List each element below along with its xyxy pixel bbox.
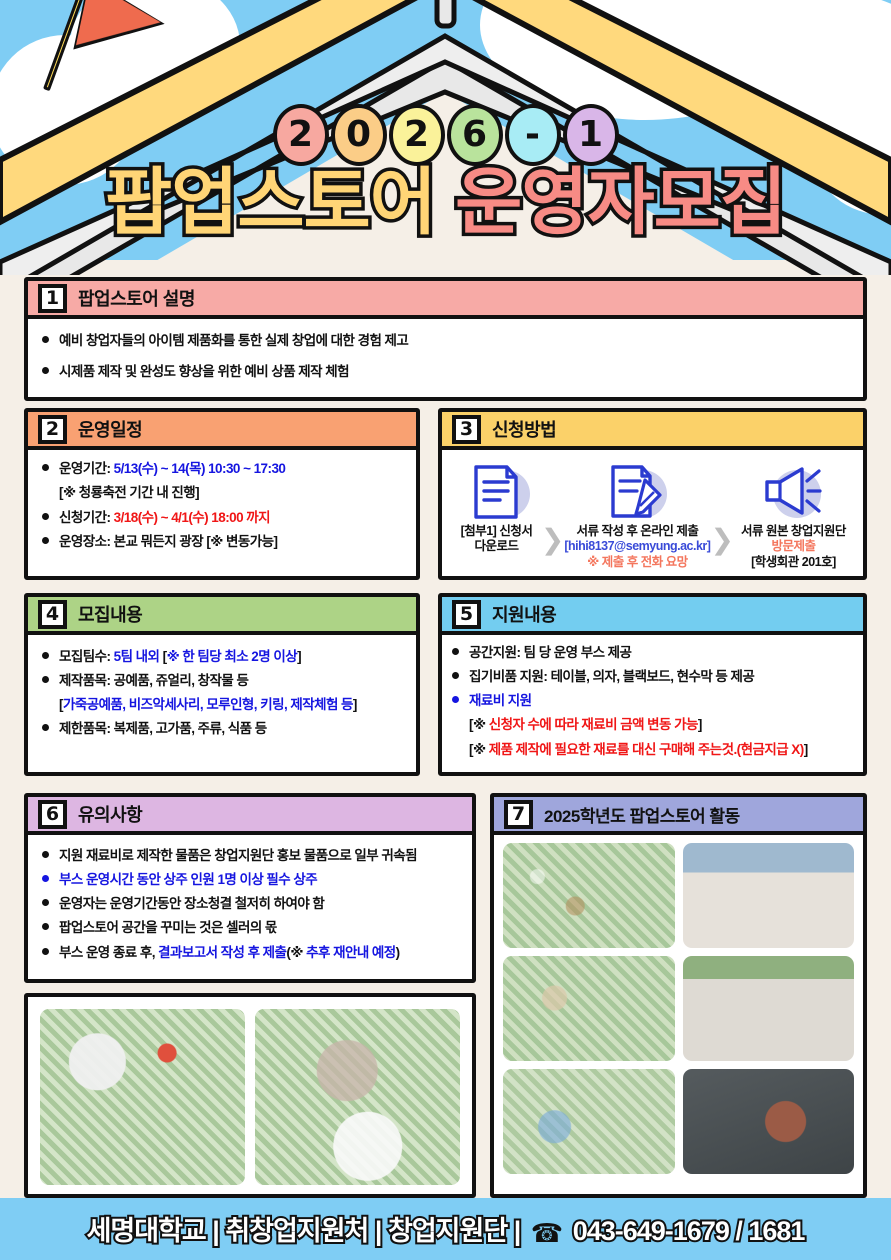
bullet-dot: [42, 923, 49, 930]
flow-icon-wrap: [734, 458, 853, 520]
section-2-body: 운영기간: 5/13(수) ~ 14(목) 10:30 ~ 17:30 [※ 청…: [28, 450, 416, 565]
flow-caption-line: 다운로드: [461, 539, 533, 554]
activity-photo: [683, 956, 855, 1061]
year-bubble: 6: [447, 104, 503, 166]
year-bubble: 2: [273, 104, 329, 166]
bullet-dot: [452, 696, 459, 703]
section-title: 팝업스토어 설명: [78, 285, 195, 311]
bullet-dot: [42, 851, 49, 858]
list-item: 집기비품 지원: 테이블, 의자, 블랙보드, 현수막 등 제공: [450, 667, 855, 686]
main-title: 팝업스토어 운영자모집: [0, 166, 891, 239]
list-item-text: 모집팀수:: [59, 649, 114, 664]
bottom-photo-row: [28, 997, 472, 1197]
list-item-text: 가죽공예품, 비즈악세사리, 모루인형, 키링, 제작체험 등: [63, 697, 353, 712]
year-bubble: 0: [331, 104, 387, 166]
bullet-dot: [42, 464, 49, 471]
section-title: 운영일정: [78, 416, 142, 442]
section-5-header: 5 지원내용: [442, 597, 863, 635]
poster-title-block: 2026-1 팝업스토어 운영자모집: [0, 104, 891, 239]
list-item: 부스 운영시간 동안 상주 인원 1명 이상 필수 상주: [40, 870, 460, 889]
flow-caption-note: ※ 제출 후 전화 요망: [564, 555, 710, 570]
list-item-text: 결과보고서 작성 후 제출: [158, 945, 286, 960]
section-1-list: 예비 창업자들의 아이템 제품화를 통한 실제 창업에 대한 경험 제고 시제품…: [40, 331, 851, 381]
bullet-dot: [42, 652, 49, 659]
list-item-text: 5팀 내외: [114, 649, 160, 664]
bullet-dot: [42, 948, 49, 955]
list-item: 재료비 지원: [450, 691, 855, 710]
list-item-text: 집기비품 지원: 테이블, 의자, 블랙보드, 현수막 등 제공: [469, 669, 754, 684]
document-icon: [473, 464, 519, 520]
list-item: 운영장소: 본교 뭐든지 광장 [※ 변동가능]: [40, 532, 404, 551]
list-item: 운영자는 운영기간동안 장소청결 철저히 하여야 함: [40, 894, 460, 913]
poster-root: 2026-1 팝업스토어 운영자모집 1 팝업스토어 설명 예비 창업자들의 아…: [0, 0, 891, 1260]
footer-phone: 043-649-1679 / 1681: [573, 1216, 805, 1246]
section-4-panel: 4 모집내용 모집팀수: 5팀 내외 [※ 한 팀당 최소 2명 이상]제작품목…: [24, 593, 420, 776]
section-number-badge: 4: [38, 600, 67, 629]
list-item-text: 추후 재안내 예정: [306, 945, 396, 960]
section-title: 모집내용: [78, 601, 142, 627]
list-item: 모집팀수: 5팀 내외 [※ 한 팀당 최소 2명 이상]: [40, 647, 404, 666]
telephone-icon: ☎: [531, 1218, 562, 1249]
list-item-text: 지원 재료비로 제작한 물품은 창업지원단 홍보 물품으로 일부 귀속됨: [59, 848, 417, 863]
application-flow: [첨부1] 신청서 다운로드 ❯: [448, 452, 857, 572]
section-1-header: 1 팝업스토어 설명: [28, 281, 863, 319]
list-item-text: 팝업스토어 공간을 꾸미는 것은 셀러의 몫: [59, 920, 277, 935]
list-item-text: [: [159, 649, 166, 664]
list-item-value: 5/13(수) ~ 14(목) 10:30 ~ 17:30: [114, 461, 286, 476]
list-item-text: 시제품 제작 및 완성도 향상을 위한 예비 상품 제작 체험: [59, 364, 349, 379]
section-number-badge: 1: [38, 284, 67, 313]
year-bubbles: 2026-1: [0, 104, 891, 166]
list-item: [※ 청룡축전 기간 내 진행]: [40, 483, 404, 502]
footer-contact: 세명대학교 | 취창업지원처 | 창업지원단 | ☎ 043-649-1679 …: [87, 1209, 805, 1249]
section-title: 2025학년도 팝업스토어 활동: [544, 802, 740, 827]
section-3-panel: 3 신청방법 [: [438, 408, 867, 580]
list-item-text: 제한품목: 복제품, 고가품, 주류, 식품 등: [59, 721, 267, 736]
flow-caption-line: [첨부1] 신청서: [461, 524, 533, 539]
flow-caption-email: [hihi8137@semyung.ac.kr]: [564, 539, 710, 554]
section-number-badge: 3: [452, 415, 481, 444]
list-item-text: ※ 한 팀당 최소 2명 이상: [167, 649, 298, 664]
footer-bar: 세명대학교 | 취창업지원처 | 창업지원단 | ☎ 043-649-1679 …: [0, 1198, 891, 1260]
section-number-badge: 2: [38, 415, 67, 444]
list-item-text: 운영장소: 본교 뭐든지 광장 [※ 변동가능]: [59, 534, 277, 549]
section-title: 유의사항: [78, 801, 142, 827]
list-item: 공간지원: 팀 당 운영 부스 제공: [450, 643, 855, 662]
section-2-panel: 2 운영일정 운영기간: 5/13(수) ~ 14(목) 10:30 ~ 17:…: [24, 408, 420, 580]
activity-photo: [503, 956, 675, 1061]
section-3-body: [첨부1] 신청서 다운로드 ❯: [442, 450, 863, 574]
list-item-text: 제품 제작에 필요한 재료를 대신 구매해 주는것.(현금지급 X): [489, 742, 804, 757]
year-bubble: 1: [563, 104, 619, 166]
activity-photo: [503, 843, 675, 948]
section-7-header: 7 2025학년도 팝업스토어 활동: [494, 797, 863, 835]
bottom-photo-panel: [24, 993, 476, 1198]
megaphone-icon: [762, 466, 824, 520]
bullet-dot: [452, 672, 459, 679]
list-item-text: 신청자 수에 따라 재료비 금액 변동 가능: [489, 717, 698, 732]
section-6-body: 지원 재료비로 제작한 물품은 창업지원단 홍보 물품으로 일부 귀속됨부스 운…: [28, 835, 472, 975]
list-item-text: ]: [804, 742, 808, 757]
activity-photo: [683, 843, 855, 948]
flow-icon-wrap: [452, 458, 541, 520]
flow-caption-line: 서류 작성 후 온라인 제출: [564, 524, 710, 539]
bullet-dot: [42, 336, 49, 343]
section-5-body: 공간지원: 팀 당 운영 부스 제공집기비품 지원: 테이블, 의자, 블랙보드…: [442, 635, 863, 772]
list-item-text: ): [396, 945, 400, 960]
section-number-badge: 6: [38, 800, 67, 829]
section-4-list: 모집팀수: 5팀 내외 [※ 한 팀당 최소 2명 이상]제작품목: 공예품, …: [40, 647, 404, 739]
list-item-text: [※: [469, 742, 489, 757]
list-item: 시제품 제작 및 완성도 향상을 위한 예비 상품 제작 체험: [40, 362, 851, 381]
list-item-text: (※: [286, 945, 306, 960]
flow-step-online-submit: 서류 작성 후 온라인 제출 [hihi8137@semyung.ac.kr] …: [564, 458, 710, 570]
bullet-dot: [42, 899, 49, 906]
list-item-text: 예비 창업자들의 아이템 제품화를 통한 실제 창업에 대한 경험 제고: [59, 333, 408, 348]
bullet-dot: [42, 537, 49, 544]
list-item: 부스 운영 종료 후, 결과보고서 작성 후 제출(※ 추후 재안내 예정): [40, 943, 460, 962]
activity-photo: [503, 1069, 675, 1174]
flow-caption-line: [학생회관 201호]: [741, 555, 846, 570]
bullet-dot: [42, 676, 49, 683]
section-6-panel: 6 유의사항 지원 재료비로 제작한 물품은 창업지원단 홍보 물품으로 일부 …: [24, 793, 476, 983]
section-2-list: 운영기간: 5/13(수) ~ 14(목) 10:30 ~ 17:30 [※ 청…: [40, 459, 404, 552]
section-title: 신청방법: [492, 416, 556, 442]
list-item-text: 운영자는 운영기간동안 장소청결 철저히 하여야 함: [59, 896, 324, 911]
bullet-dot: [42, 513, 49, 520]
main-title-part1: 팝업스토어: [105, 162, 436, 243]
bullet-dot: [42, 724, 49, 731]
section-6-header: 6 유의사항: [28, 797, 472, 835]
bullet-dot: [452, 648, 459, 655]
list-item-label: 운영기간:: [59, 461, 114, 476]
list-item: 지원 재료비로 제작한 물품은 창업지원단 홍보 물품으로 일부 귀속됨: [40, 846, 460, 865]
list-item: 예비 창업자들의 아이템 제품화를 통한 실제 창업에 대한 경험 제고: [40, 331, 851, 350]
list-item: 제작품목: 공예품, 쥬얼리, 창작물 등: [40, 671, 404, 690]
list-item-text: ]: [353, 697, 357, 712]
photo-grid: [503, 843, 854, 1174]
flow-step-visit-submit: 서류 원본 창업지원단 방문제출 [학생회관 201호]: [734, 458, 853, 570]
year-bubble: 2: [389, 104, 445, 166]
flow-caption: [첨부1] 신청서 다운로드: [461, 524, 533, 555]
bottom-photo: [255, 1009, 460, 1185]
list-item-text: ]: [297, 649, 301, 664]
section-2-header: 2 운영일정: [28, 412, 416, 450]
list-item-value: 3/18(수) ~ 4/1(수) 18:00 까지: [114, 510, 270, 525]
section-4-header: 4 모집내용: [28, 597, 416, 635]
section-5-list: 공간지원: 팀 당 운영 부스 제공집기비품 지원: 테이블, 의자, 블랙보드…: [450, 643, 855, 759]
flow-step-download: [첨부1] 신청서 다운로드: [452, 458, 541, 555]
footer-org-3: 창업지원단: [388, 1216, 507, 1246]
footer-separator: |: [375, 1216, 382, 1246]
list-item: [가죽공예품, 비즈악세사리, 모루인형, 키링, 제작체험 등]: [40, 695, 404, 714]
activity-photo: [683, 1069, 855, 1174]
section-4-body: 모집팀수: 5팀 내외 [※ 한 팀당 최소 2명 이상]제작품목: 공예품, …: [28, 635, 416, 752]
section-1-body: 예비 창업자들의 아이템 제품화를 통한 실제 창업에 대한 경험 제고 시제품…: [28, 319, 863, 394]
section-5-panel: 5 지원내용 공간지원: 팀 당 운영 부스 제공집기비품 지원: 테이블, 의…: [438, 593, 867, 776]
list-item: [※ 신청자 수에 따라 재료비 금액 변동 가능]: [450, 715, 855, 734]
list-item: 제한품목: 복제품, 고가품, 주류, 식품 등: [40, 719, 404, 738]
list-item-text: 공간지원: 팀 당 운영 부스 제공: [469, 645, 631, 660]
list-item-text: 부스 운영시간 동안 상주 인원 1명 이상 필수 상주: [59, 872, 317, 887]
chevron-right-icon: ❯: [541, 526, 564, 554]
section-title: 지원내용: [492, 601, 556, 627]
year-bubble: -: [505, 104, 561, 166]
main-title-part2: 운영자모집: [455, 162, 786, 243]
document-edit-icon: [609, 464, 665, 520]
list-item: 신청기간: 3/18(수) ~ 4/1(수) 18:00 까지: [40, 508, 404, 527]
footer-org-2: 취창업지원처: [225, 1216, 368, 1246]
flow-caption: 서류 작성 후 온라인 제출 [hihi8137@semyung.ac.kr] …: [564, 524, 710, 570]
flow-caption-line: 서류 원본 창업지원단: [741, 524, 846, 539]
list-item-text: 재료비 지원: [469, 693, 532, 708]
list-item-text: [※: [469, 717, 489, 732]
section-number-badge: 7: [504, 800, 533, 829]
list-item: 운영기간: 5/13(수) ~ 14(목) 10:30 ~ 17:30: [40, 459, 404, 478]
section-1-panel: 1 팝업스토어 설명 예비 창업자들의 아이템 제품화를 통한 실제 창업에 대…: [24, 277, 867, 401]
bullet-dot: [42, 875, 49, 882]
flow-icon-wrap: [564, 458, 710, 520]
list-item: [※ 제품 제작에 필요한 재료를 대신 구매해 주는것.(현금지급 X)]: [450, 740, 855, 759]
footer-separator: |: [514, 1216, 521, 1246]
section-6-list: 지원 재료비로 제작한 물품은 창업지원단 홍보 물품으로 일부 귀속됨부스 운…: [40, 846, 460, 962]
list-item-label: 신청기간:: [59, 510, 114, 525]
list-item-text: [※ 청룡축전 기간 내 진행]: [59, 485, 199, 500]
bottom-photo: [40, 1009, 245, 1185]
list-item-text: 부스 운영 종료 후,: [59, 945, 158, 960]
section-3-header: 3 신청방법: [442, 412, 863, 450]
chevron-right-icon: ❯: [710, 526, 733, 554]
flow-caption-highlight: 방문제출: [741, 539, 846, 554]
section-number-badge: 5: [452, 600, 481, 629]
section-7-body: [494, 835, 863, 1182]
footer-org-1: 세명대학교: [87, 1216, 206, 1246]
bullet-dot: [42, 367, 49, 374]
list-item-text: 제작품목: 공예품, 쥬얼리, 창작물 등: [59, 673, 248, 688]
list-item-text: ]: [698, 717, 702, 732]
flow-caption: 서류 원본 창업지원단 방문제출 [학생회관 201호]: [741, 524, 846, 570]
section-7-panel: 7 2025학년도 팝업스토어 활동: [490, 793, 867, 1198]
list-item: 팝업스토어 공간을 꾸미는 것은 셀러의 몫: [40, 918, 460, 937]
footer-separator: |: [212, 1216, 219, 1246]
